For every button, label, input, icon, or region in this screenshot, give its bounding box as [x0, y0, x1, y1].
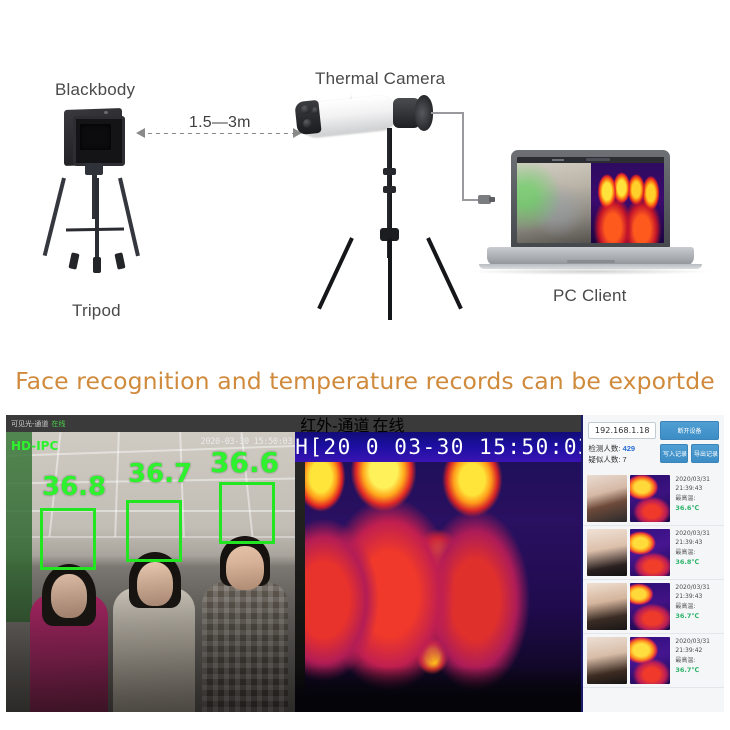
detected-count-label: 检测人数:	[588, 444, 620, 453]
laptop-visible-feed	[517, 157, 591, 243]
blackbody-tripod-foot	[114, 252, 125, 269]
sidebar-controls: 192.168.1.18 断开设备 检测人数: 429 疑似人数: 7 写入记录…	[583, 415, 724, 469]
camera-lens-icon	[301, 105, 310, 114]
record-temp-label: 最高温:	[675, 656, 720, 665]
visible-channel-title: 可见光-通道	[11, 419, 48, 429]
write-record-button[interactable]: 写入记录	[660, 444, 688, 463]
thermal-channel[interactable]: 红外-通道 在线 H[20 0 03-30 15:50:03	[295, 415, 581, 712]
record-metadata: 2020/03/31 21:39:43 最高温: 36.8℃	[673, 529, 720, 567]
blackbody-emitter-core	[80, 124, 111, 150]
temperature-reading: 36.7	[128, 459, 192, 489]
distance-arrow-left-icon	[136, 128, 145, 138]
laptop-display	[517, 157, 664, 243]
thermal-channel-status: 在线	[373, 415, 405, 436]
record-time: 21:39:43	[675, 484, 720, 493]
stream-name-overlay: HD-IPC	[11, 439, 58, 453]
visible-scene: 36.8 36.7 36.6	[6, 432, 295, 712]
visible-channel-header: 可见光-通道 在线	[6, 415, 295, 432]
face-detection-box	[219, 482, 275, 544]
record-thermal-thumbnail	[630, 637, 670, 684]
page-root: Blackbody Thermal Camera Tripod PC Clien…	[0, 0, 730, 730]
distance-label: 1.5—3m	[189, 114, 251, 132]
visible-channel-timestamp: 2020-03-30 15:50:03	[201, 437, 293, 447]
record-thermal-thumbnail	[630, 583, 670, 630]
temperature-reading: 36.6	[210, 446, 279, 479]
record-temp-value: 36.8℃	[675, 557, 720, 567]
laptop-screen	[511, 150, 670, 248]
record-time: 21:39:42	[675, 646, 720, 655]
record-date: 2020/03/31	[675, 529, 720, 538]
record-thermal-thumbnail	[630, 475, 670, 522]
export-record-button[interactable]: 导出记录	[691, 444, 719, 463]
visible-light-channel[interactable]: 可见光-通道 在线	[6, 415, 295, 712]
record-face-thumbnail	[587, 475, 627, 522]
blackbody-tripod-leg	[95, 178, 99, 262]
thermal-overlay-timestamp: H[20 0 03-30 15:50:03	[295, 432, 581, 462]
detected-count-stat: 检测人数: 429	[588, 444, 656, 455]
record-temp-value: 36.7℃	[675, 611, 720, 621]
record-time: 21:39:43	[675, 592, 720, 601]
thermal-scene-floor	[295, 666, 581, 712]
detected-count-value: 429	[623, 444, 636, 453]
record-date: 2020/03/31	[675, 637, 720, 646]
control-sidebar: 192.168.1.18 断开设备 检测人数: 429 疑似人数: 7 写入记录…	[581, 415, 724, 712]
blackbody-label: Blackbody	[55, 80, 135, 100]
face-detection-box	[40, 508, 96, 570]
connection-wire	[462, 112, 464, 200]
record-face-thumbnail	[587, 637, 627, 684]
record-date: 2020/03/31	[675, 583, 720, 592]
thermal-camera-label: Thermal Camera	[315, 69, 445, 89]
ip-address-field[interactable]: 192.168.1.18	[588, 422, 656, 439]
disconnect-device-button[interactable]: 断开设备	[660, 421, 719, 440]
blackbody-tripod-brace	[66, 227, 124, 231]
blackbody-tripod-foot	[68, 252, 79, 269]
record-temp-label: 最高温:	[675, 494, 720, 503]
record-temp-label: 最高温:	[675, 602, 720, 611]
record-temp-label: 最高温:	[675, 548, 720, 557]
face-detection-box	[126, 500, 182, 562]
record-date: 2020/03/31	[675, 475, 720, 484]
record-thermal-thumbnail	[630, 529, 670, 576]
camera-lens-icon	[312, 107, 319, 114]
laptop-thermal-feed	[591, 157, 665, 243]
laptop-shadow	[470, 268, 710, 275]
blackbody-tripod-foot	[93, 257, 101, 273]
camera-cable	[431, 112, 463, 114]
record-metadata: 2020/03/31 21:39:43 最高温: 36.6℃	[673, 475, 720, 513]
detection-record-list[interactable]: 2020/03/31 21:39:43 最高温: 36.6℃ 2020/03/3…	[583, 472, 724, 712]
camera-tripod-leg	[426, 237, 463, 309]
blackbody-tripod-leg	[43, 178, 66, 257]
record-metadata: 2020/03/31 21:39:43 最高温: 36.7℃	[673, 583, 720, 621]
record-face-thumbnail	[587, 529, 627, 576]
distance-arrow-line	[140, 133, 300, 134]
tripod-label: Tripod	[72, 301, 121, 321]
camera-tripod-knob	[383, 168, 396, 175]
vms-application-window: 可见光-通道 在线	[6, 415, 724, 712]
list-item[interactable]: 2020/03/31 21:39:43 最高温: 36.8℃	[583, 526, 724, 580]
headline-text: Face recognition and temperature records…	[0, 367, 730, 395]
camera-tripod-knob	[383, 186, 396, 193]
camera-tripod-leg	[317, 237, 354, 309]
blackbody-indicator-icon	[104, 111, 108, 114]
camera-tripod-leg	[388, 238, 392, 320]
device-row: 192.168.1.18 断开设备	[588, 421, 719, 440]
thermal-channel-title: 红外-通道	[300, 415, 369, 436]
scene-vignette	[6, 562, 295, 712]
setup-diagram: Blackbody Thermal Camera Tripod PC Clien…	[0, 0, 730, 350]
camera-lens-icon	[303, 119, 312, 128]
temperature-reading: 36.8	[42, 472, 106, 502]
laptop-app-toolbar	[517, 157, 664, 163]
suspected-count-stat: 疑似人数: 7	[588, 455, 656, 466]
record-temp-value: 36.6℃	[675, 503, 720, 513]
statistics-row: 检测人数: 429 疑似人数: 7 写入记录 导出记录	[588, 444, 719, 466]
visible-channel-status: 在线	[51, 419, 65, 429]
statistics-block: 检测人数: 429 疑似人数: 7	[588, 444, 656, 466]
record-time: 21:39:43	[675, 538, 720, 547]
record-face-thumbnail	[587, 583, 627, 630]
record-metadata: 2020/03/31 21:39:42 最高温: 36.7℃	[673, 637, 720, 675]
thermal-channel-header: 红外-通道 在线	[295, 415, 581, 432]
blackbody-tripod-leg	[118, 178, 140, 257]
list-item[interactable]: 2020/03/31 21:39:42 最高温: 36.7℃	[583, 634, 724, 688]
cable-plug-icon	[478, 195, 491, 204]
list-item[interactable]: 2020/03/31 21:39:43 最高温: 36.6℃	[583, 472, 724, 526]
pc-client-label: PC Client	[553, 286, 627, 306]
record-temp-value: 36.7℃	[675, 665, 720, 675]
sidebar-action-buttons: 写入记录 导出记录	[660, 444, 719, 463]
list-item[interactable]: 2020/03/31 21:39:43 最高温: 36.7℃	[583, 580, 724, 634]
